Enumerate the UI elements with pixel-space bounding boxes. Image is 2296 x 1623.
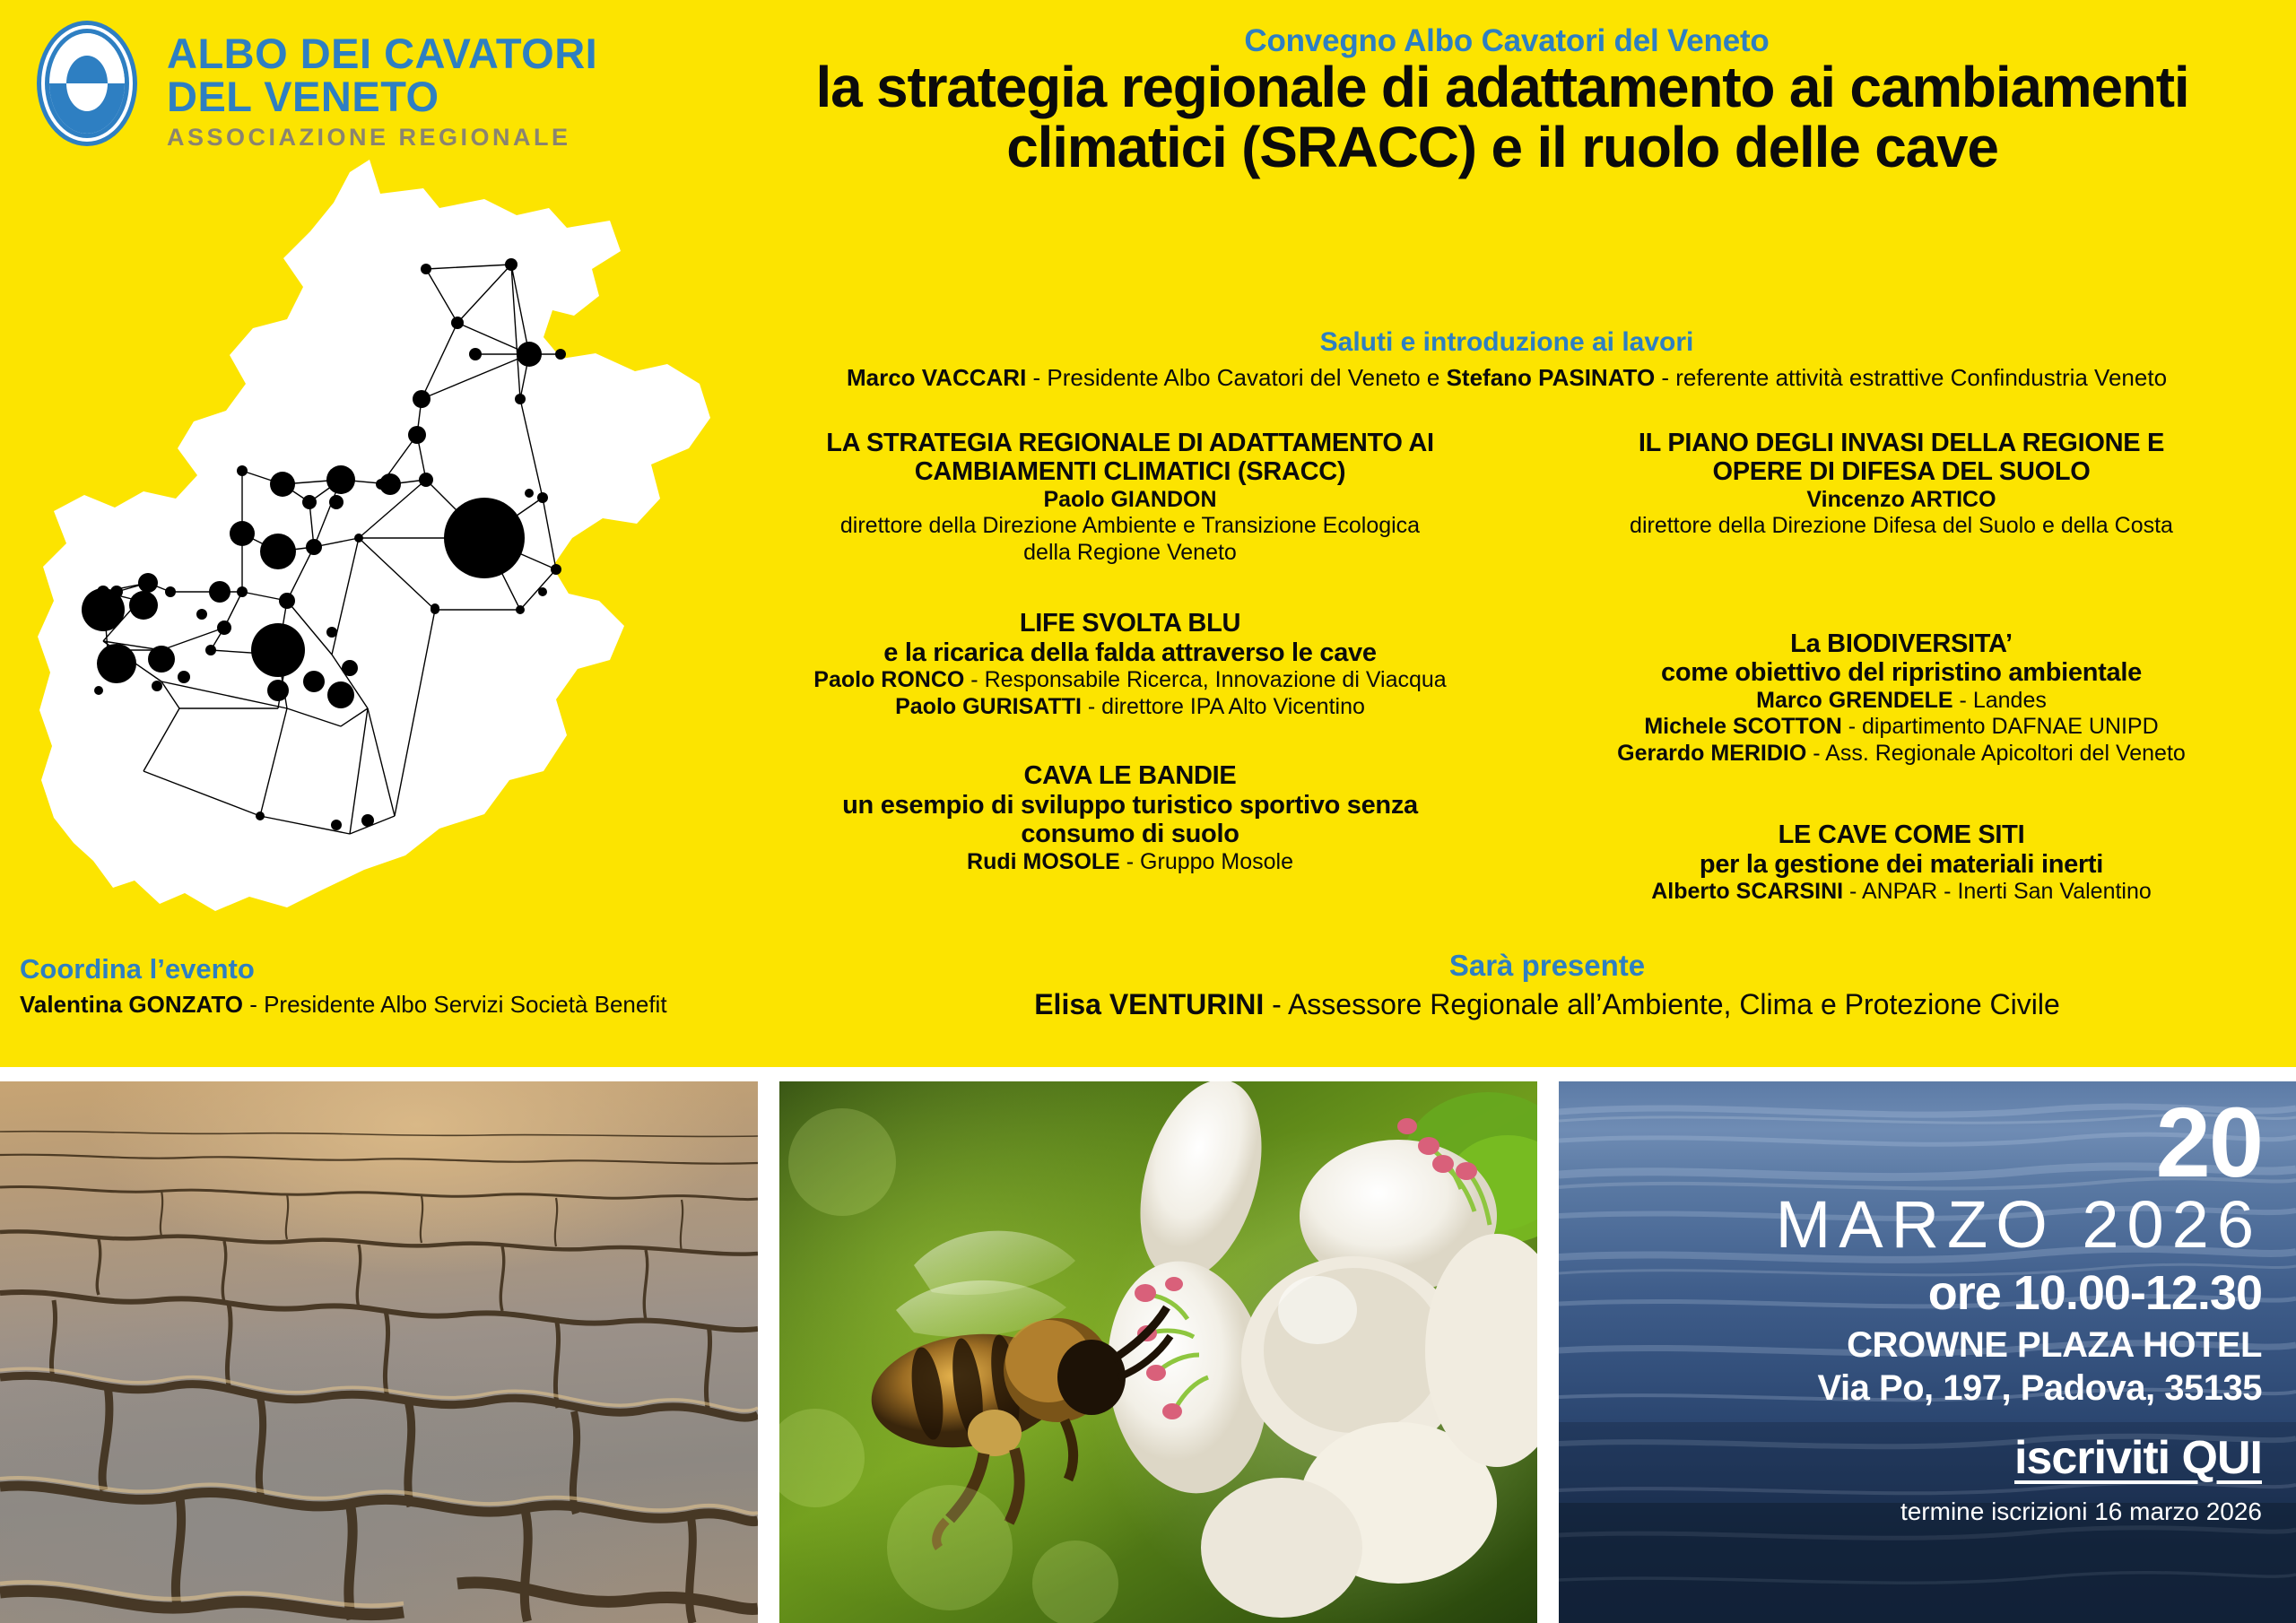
cracked-earth-texture: [0, 1081, 758, 1623]
bottom-image-strip: 20 MARZO 2026 ore 10.00-12.30 CROWNE PLA…: [0, 1081, 2296, 1623]
session-speaker: Alberto SCARSINI - ANPAR - Inerti San Va…: [1507, 879, 2296, 906]
speaker-name: Michele SCOTTON: [1644, 714, 1841, 739]
register-link[interactable]: iscriviti QUI: [2014, 1433, 2262, 1484]
session-title: LA STRATEGIA REGIONALE DI ADATTAMENTO AI: [735, 429, 1525, 457]
sessions-column-right: IL PIANO DEGLI INVASI DELLA REGIONE E OP…: [1507, 429, 2296, 906]
session-speaker: Vincenzo ARTICO: [1507, 487, 2296, 514]
logo-line-3: ASSOCIAZIONE REGIONALE: [167, 124, 597, 152]
session-speaker-1: Marco GRENDELE - Landes: [1507, 688, 2296, 715]
session-title: IL PIANO DEGLI INVASI DELLA REGIONE E: [1507, 429, 2296, 457]
speaker-role: - dipartimento DAFNAE UNIPD: [1842, 714, 2159, 739]
spacer: [1507, 540, 2296, 629]
session-biodiversita: La BIODIVERSITA’ come obiettivo del ripr…: [1507, 629, 2296, 767]
speaker-name: Alberto SCARSINI: [1651, 879, 1843, 904]
event-address: Via Po, 197, Padova, 35135: [1580, 1367, 2262, 1410]
page-title: la strategia regionale di adattamento ai…: [717, 57, 2287, 177]
greetings-role-2: - referente attività estrattive Confindu…: [1655, 364, 2167, 391]
poster-root: ALBO DEI CAVATORI DEL VENETO ASSOCIAZION…: [0, 0, 2296, 1623]
session-speaker-role-line-2: della Regione Veneto: [735, 540, 1525, 567]
logo-line-1: ALBO DEI CAVATORI: [167, 32, 597, 75]
event-time: ore 10.00-12.30: [1580, 1267, 2262, 1319]
session-cava-le-bandie: CAVA LE BANDIE un esempio di sviluppo tu…: [735, 761, 1525, 875]
session-subtitle: CAMBIAMENTI CLIMATICI (SRACC): [735, 457, 1525, 486]
photo-bee-blossom: [779, 1081, 1537, 1623]
veneto-silhouette: [38, 160, 710, 911]
spacer: [735, 566, 1525, 609]
greetings-role-1: - Presidente Albo Cavatori del Veneto e: [1026, 364, 1446, 391]
session-title: CAVA LE BANDIE: [735, 761, 1525, 790]
speaker-role: - Gruppo Mosole: [1120, 849, 1293, 874]
guest-heading: Sarà presente: [807, 949, 2287, 983]
oval-quadrant-logo-icon: [34, 18, 140, 149]
photo-cracked-earth: [0, 1081, 758, 1623]
session-piano-invasi: IL PIANO DEGLI INVASI DELLA REGIONE E OP…: [1507, 429, 2296, 540]
guest-role: - Assessore Regionale all’Ambiente, Clim…: [1264, 988, 2060, 1020]
session-life-svolta-blu: LIFE SVOLTA BLU e la ricarica della fald…: [735, 609, 1525, 720]
session-subtitle: OPERE DI DIFESA DEL SUOLO: [1507, 457, 2296, 486]
speaker-role: - direttore IPA Alto Vicentino: [1082, 694, 1365, 719]
session-title: LIFE SVOLTA BLU: [735, 609, 1525, 638]
session-speaker-role: direttore della Direzione Difesa del Suo…: [1507, 513, 2296, 540]
speaker-name: Rudi MOSOLE: [967, 849, 1120, 874]
speaker-role: - Landes: [1953, 688, 2047, 713]
bee-blossom-scene: [779, 1081, 1537, 1623]
photo-water-date-panel: 20 MARZO 2026 ore 10.00-12.30 CROWNE PLA…: [1559, 1081, 2296, 1623]
session-cave-come-siti: LE CAVE COME SITI per la gestione dei ma…: [1507, 820, 2296, 905]
coordinator-heading: Coordina l’evento: [20, 953, 255, 985]
speaker-role: - ANPAR - Inerti San Valentino: [1843, 879, 2152, 904]
speaker-name: Paolo GURISATTI: [895, 694, 1082, 719]
session-speaker: Rudi MOSOLE - Gruppo Mosole: [735, 849, 1525, 876]
registration-deadline: termine iscrizioni 16 marzo 2026: [1580, 1497, 2262, 1527]
session-speaker-2: Michele SCOTTON - dipartimento DAFNAE UN…: [1507, 714, 2296, 741]
event-kicker: Convegno Albo Cavatori del Veneto: [735, 23, 2278, 59]
spacer: [735, 720, 1525, 761]
session-speaker-3: Gerardo MERIDIO - Ass. Regionale Apicolt…: [1507, 741, 2296, 768]
speaker-name: Gerardo MERIDIO: [1617, 741, 1806, 766]
logo-line-2: DEL VENETO: [167, 75, 597, 118]
coordinator-role: - Presidente Albo Servizi Società Benefi…: [243, 991, 667, 1018]
session-title: LE CAVE COME SITI: [1507, 820, 2296, 849]
guest-person: Elisa VENTURINI - Assessore Regionale al…: [807, 988, 2287, 1021]
session-title: La BIODIVERSITA’: [1507, 629, 2296, 658]
sessions-column-left: LA STRATEGIA REGIONALE DI ADATTAMENTO AI…: [735, 429, 1525, 875]
session-sracc: LA STRATEGIA REGIONALE DI ADATTAMENTO AI…: [735, 429, 1525, 566]
session-speaker-2: Paolo GURISATTI - direttore IPA Alto Vic…: [735, 694, 1525, 721]
speaker-role: - Ass. Regionale Apicoltori del Veneto: [1806, 741, 2186, 766]
session-subtitle: per la gestione dei materiali inerti: [1507, 850, 2296, 879]
session-speaker-1: Paolo RONCO - Responsabile Ricerca, Inno…: [735, 667, 1525, 694]
session-speaker-role-line-1: direttore della Direzione Ambiente e Tra…: [735, 513, 1525, 540]
speaker-name: Marco GRENDELE: [1756, 688, 1952, 713]
session-subtitle-line-2: consumo di suolo: [735, 820, 1525, 848]
session-subtitle-line-1: un esempio di sviluppo turistico sportiv…: [735, 791, 1525, 820]
spacer: [1507, 767, 2296, 820]
logo-wordmark: ALBO DEI CAVATORI DEL VENETO ASSOCIAZION…: [167, 32, 597, 152]
greetings-name-1: Marco VACCARI: [847, 364, 1026, 391]
event-details: 20 MARZO 2026 ore 10.00-12.30 CROWNE PLA…: [1580, 1098, 2262, 1526]
coordinator-person: Valentina GONZATO - Presidente Albo Serv…: [20, 991, 667, 1019]
guest-name: Elisa VENTURINI: [1034, 988, 1264, 1020]
speaker-name: Paolo RONCO: [813, 667, 964, 692]
event-venue: CROWNE PLAZA HOTEL: [1580, 1324, 2262, 1367]
session-subtitle: e la ricarica della falda attraverso le …: [735, 638, 1525, 667]
veneto-network-map: [18, 152, 726, 933]
greetings-speakers: Marco VACCARI - Presidente Albo Cavatori…: [735, 364, 2278, 392]
greetings-heading: Saluti e introduzione ai lavori: [735, 327, 2278, 358]
session-subtitle: come obiettivo del ripristino ambientale: [1507, 658, 2296, 687]
greetings-name-2: Stefano PASINATO: [1447, 364, 1656, 391]
event-month-year: MARZO 2026: [1580, 1192, 2262, 1258]
speaker-role: - Responsabile Ricerca, Innovazione di V…: [964, 667, 1446, 692]
event-day: 20: [1580, 1098, 2262, 1188]
session-speaker: Paolo GIANDON: [735, 487, 1525, 514]
coordinator-name: Valentina GONZATO: [20, 991, 243, 1018]
